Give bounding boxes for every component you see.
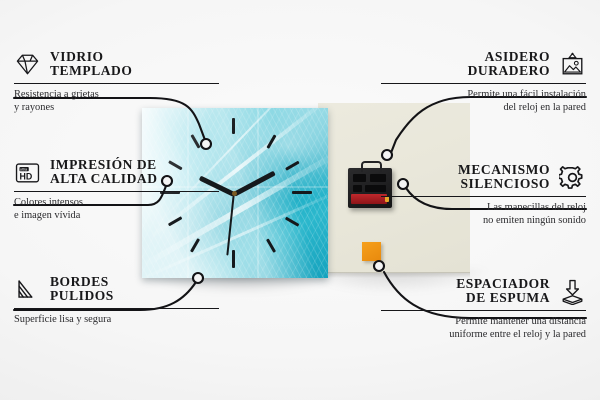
connector-dot-foam-spacer <box>374 261 384 271</box>
feature-body-line2: y rayones <box>14 101 219 114</box>
polished-edges-icon <box>14 276 41 303</box>
feature-polished-edges: BORDES PULIDOS Superficie lisa y segura <box>14 275 219 326</box>
ultra-hd-icon: ultra HD <box>14 159 41 186</box>
feature-title-line2: ALTA CALIDAD <box>50 172 158 186</box>
feature-body-line2: no emiten ningún sonido <box>381 214 586 227</box>
feature-rule <box>381 196 586 198</box>
feature-title-line2: TEMPLADO <box>50 64 132 78</box>
feature-body-line1: Superficie lisa y segura <box>14 313 219 326</box>
feature-body-line1: Colores intensos <box>14 196 219 209</box>
foam-spacer-icon <box>559 278 586 305</box>
feature-rule <box>14 83 219 85</box>
feature-title-line1: MECANISMO <box>458 163 550 177</box>
gear-icon <box>559 164 586 191</box>
feature-title-line2: SILENCIOSO <box>460 177 550 191</box>
framed-picture-icon <box>559 51 586 78</box>
feature-body-line1: Permite mantener una distancia <box>381 315 586 328</box>
infographic-canvas: VIDRIO TEMPLADO Resistencia a grietas y … <box>0 0 600 400</box>
feature-title-line2: DURADERO <box>468 64 550 78</box>
feature-title-line1: IMPRESIÓN DE <box>50 158 158 172</box>
feature-title-line1: ASIDERO <box>485 50 550 64</box>
feature-body-line2: e imagen vívida <box>14 209 219 222</box>
feature-rule <box>381 310 586 312</box>
feature-title-line1: VIDRIO <box>50 50 132 64</box>
feature-body-line2: del reloj en la pared <box>381 101 586 114</box>
diamond-icon <box>14 51 41 78</box>
feature-body-line2: uniforme entre el reloj y la pared <box>381 328 586 341</box>
feature-title-line2: DE ESPUMA <box>466 291 550 305</box>
feature-hd-print: ultra HD IMPRESIÓN DE ALTA CALIDAD Color… <box>14 158 219 222</box>
feature-durable-hanger: ASIDERO DURADERO Permite una fácil insta… <box>381 50 586 114</box>
feature-title-line1: BORDES <box>50 275 114 289</box>
feature-title-line2: PULIDOS <box>50 289 114 303</box>
feature-title-line1: ESPACIADOR <box>456 277 550 291</box>
feature-body-line1: Resistencia a grietas <box>14 88 219 101</box>
feature-body-line1: Las manecillas del reloj <box>381 201 586 214</box>
feature-body-line1: Permite una fácil instalación <box>381 88 586 101</box>
feature-rule <box>14 191 219 193</box>
connector-dot-tempered-glass <box>201 139 211 149</box>
feature-rule <box>14 308 219 310</box>
feature-tempered-glass: VIDRIO TEMPLADO Resistencia a grietas y … <box>14 50 219 114</box>
connector-dot-durable-hanger <box>382 150 392 160</box>
svg-text:HD: HD <box>19 171 32 181</box>
feature-silent-mechanism: MECANISMO SILENCIOSO Las manecillas del … <box>381 163 586 227</box>
feature-rule <box>381 83 586 85</box>
feature-foam-spacer: ESPACIADOR DE ESPUMA Permite mantener un… <box>381 277 586 341</box>
